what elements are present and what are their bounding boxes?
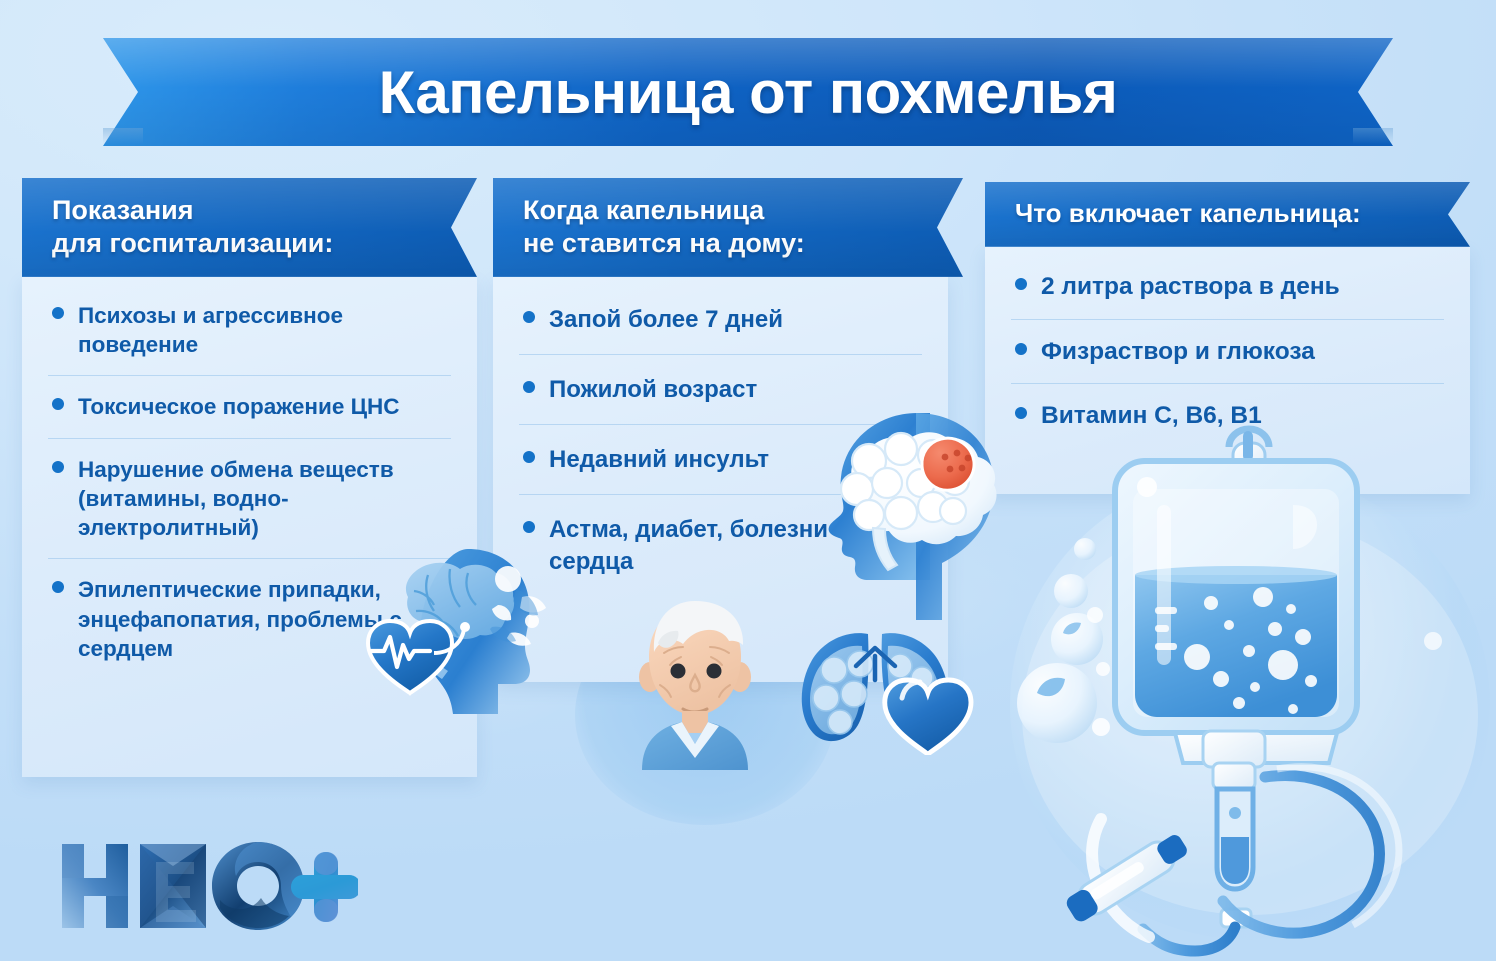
column-3-list: 2 литра раствора в день Физраствор и глю…	[1011, 255, 1444, 449]
background-blob-right	[1010, 470, 1490, 940]
column-3-header: Что включает капельница:	[985, 182, 1470, 247]
page-title: Капельница от похмелья	[379, 58, 1118, 127]
column-indications: Показания для госпитализации: Психозы и …	[22, 178, 477, 777]
column-1-body: Психозы и агрессивное поведение Токсичес…	[22, 277, 477, 777]
list-item: Пожилой возраст	[519, 355, 922, 425]
list-item: Недавний инсульт	[519, 425, 922, 495]
column-2-header-line-1: Когда капельница	[523, 194, 905, 227]
brand-logo-neo-plus	[58, 838, 358, 934]
logo-letter-o	[212, 842, 304, 930]
column-2-header-line-2: не ставится на дому:	[523, 227, 905, 260]
list-item: Токсическое поражение ЦНС	[48, 376, 451, 438]
list-item: Нарушение обмена веществ (витамины, водн…	[48, 439, 451, 560]
column-contents: Что включает капельница: 2 литра раствор…	[985, 182, 1470, 494]
column-2-list: Запой более 7 дней Пожилой возраст Недав…	[519, 285, 922, 596]
logo-letter-n	[62, 844, 128, 928]
list-item: Физраствор и глюкоза	[1011, 320, 1444, 385]
list-item: Витамин C, B6, B1	[1011, 384, 1444, 448]
column-2-header: Когда капельница не ставится на дому:	[493, 178, 963, 277]
iv-drip-bag-icon	[1015, 425, 1485, 961]
ribbon-tail-right	[1353, 128, 1393, 144]
list-item: Запой более 7 дней	[519, 285, 922, 355]
logo-letter-e	[140, 844, 206, 928]
list-item: Психозы и агрессивное поведение	[48, 285, 451, 377]
column-3-body: 2 литра раствора в день Физраствор и глю…	[985, 247, 1470, 494]
list-item: 2 литра раствора в день	[1011, 255, 1444, 320]
list-item: Эпилептические припадки, энцефапопатия, …	[48, 559, 451, 679]
column-2-body: Запой более 7 дней Пожилой возраст Недав…	[493, 277, 948, 682]
column-contraindications: Когда капельница не ставится на дому: За…	[493, 178, 963, 682]
logo-letter-plus	[291, 852, 358, 922]
page-title-ribbon: Капельница от похмелья	[103, 38, 1393, 146]
column-1-list: Психозы и агрессивное поведение Токсичес…	[48, 285, 451, 679]
list-item: Астма, диабет, болезни сердца	[519, 495, 922, 595]
column-3-header-line-1: Что включает капельница:	[1015, 198, 1422, 230]
column-1-header-line-2: для госпитализации:	[52, 227, 419, 260]
column-1-header: Показания для госпитализации:	[22, 178, 477, 277]
ribbon-tail-left	[103, 128, 143, 144]
column-1-header-line-1: Показания	[52, 194, 419, 227]
